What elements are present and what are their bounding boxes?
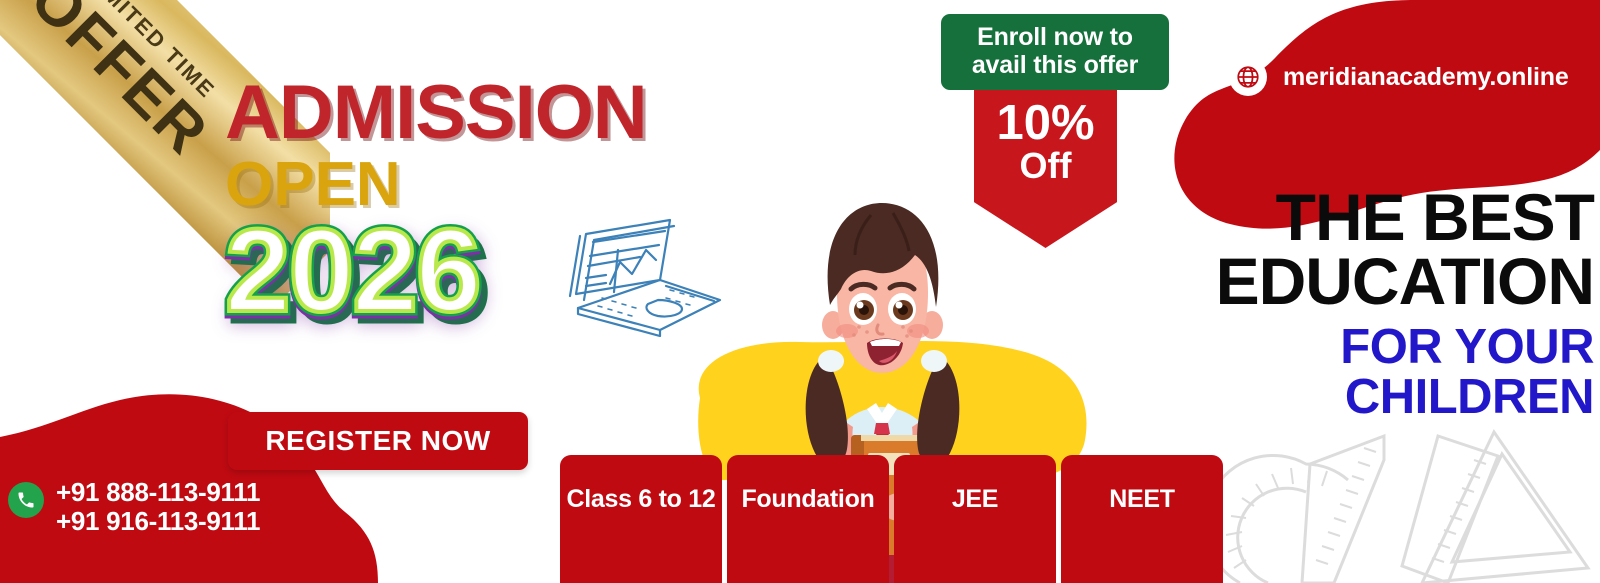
enroll-now-badge: Enroll now to avail this offer bbox=[941, 14, 1169, 90]
register-now-button[interactable]: REGISTER NOW bbox=[228, 412, 528, 470]
website-link[interactable]: meridianacademy.online bbox=[1229, 58, 1569, 96]
tagline-line-4: CHILDREN bbox=[974, 373, 1594, 423]
course-card-class-6-to-12[interactable]: Class 6 to 12 bbox=[560, 455, 722, 583]
course-card-foundation[interactable]: Foundation bbox=[727, 455, 889, 583]
discount-off-label: Off bbox=[1020, 147, 1072, 185]
course-cards: Class 6 to 12 Foundation JEE NEET bbox=[560, 455, 1223, 583]
phone-number-1[interactable]: +91 888-113-9111 bbox=[56, 478, 260, 507]
admission-banner: LIMITED TIME OFFER bbox=[0, 0, 1600, 583]
register-now-label: REGISTER NOW bbox=[265, 425, 490, 457]
phone-numbers-list: +91 888-113-9111 +91 916-113-9111 bbox=[56, 478, 260, 536]
phone-number-2[interactable]: +91 916-113-9111 bbox=[56, 507, 260, 536]
enroll-line-1: Enroll now to bbox=[951, 23, 1159, 51]
course-card-neet[interactable]: NEET bbox=[1061, 455, 1223, 583]
discount-percent: 10% bbox=[996, 100, 1094, 147]
course-card-jee[interactable]: JEE bbox=[894, 455, 1056, 583]
course-label: Class 6 to 12 bbox=[567, 485, 716, 514]
course-label: NEET bbox=[1109, 485, 1174, 514]
headline-admission: ADMISSION bbox=[225, 78, 745, 148]
globe-icon bbox=[1229, 58, 1267, 96]
tagline-line-3: FOR YOUR bbox=[974, 323, 1594, 373]
laptop-doodle-icon bbox=[548, 212, 728, 337]
course-label: Foundation bbox=[741, 485, 874, 514]
course-label: JEE bbox=[952, 485, 998, 514]
phone-icon bbox=[8, 482, 44, 518]
contact-phone-block[interactable]: +91 888-113-9111 +91 916-113-9111 bbox=[8, 478, 260, 536]
enroll-line-2: avail this offer bbox=[951, 51, 1159, 79]
headline-year-highlight: 2026 bbox=[225, 212, 480, 330]
website-url[interactable]: meridianacademy.online bbox=[1283, 63, 1569, 92]
tagline-line-2: EDUCATION bbox=[974, 249, 1594, 313]
geometry-tools-watermark bbox=[1198, 420, 1600, 583]
